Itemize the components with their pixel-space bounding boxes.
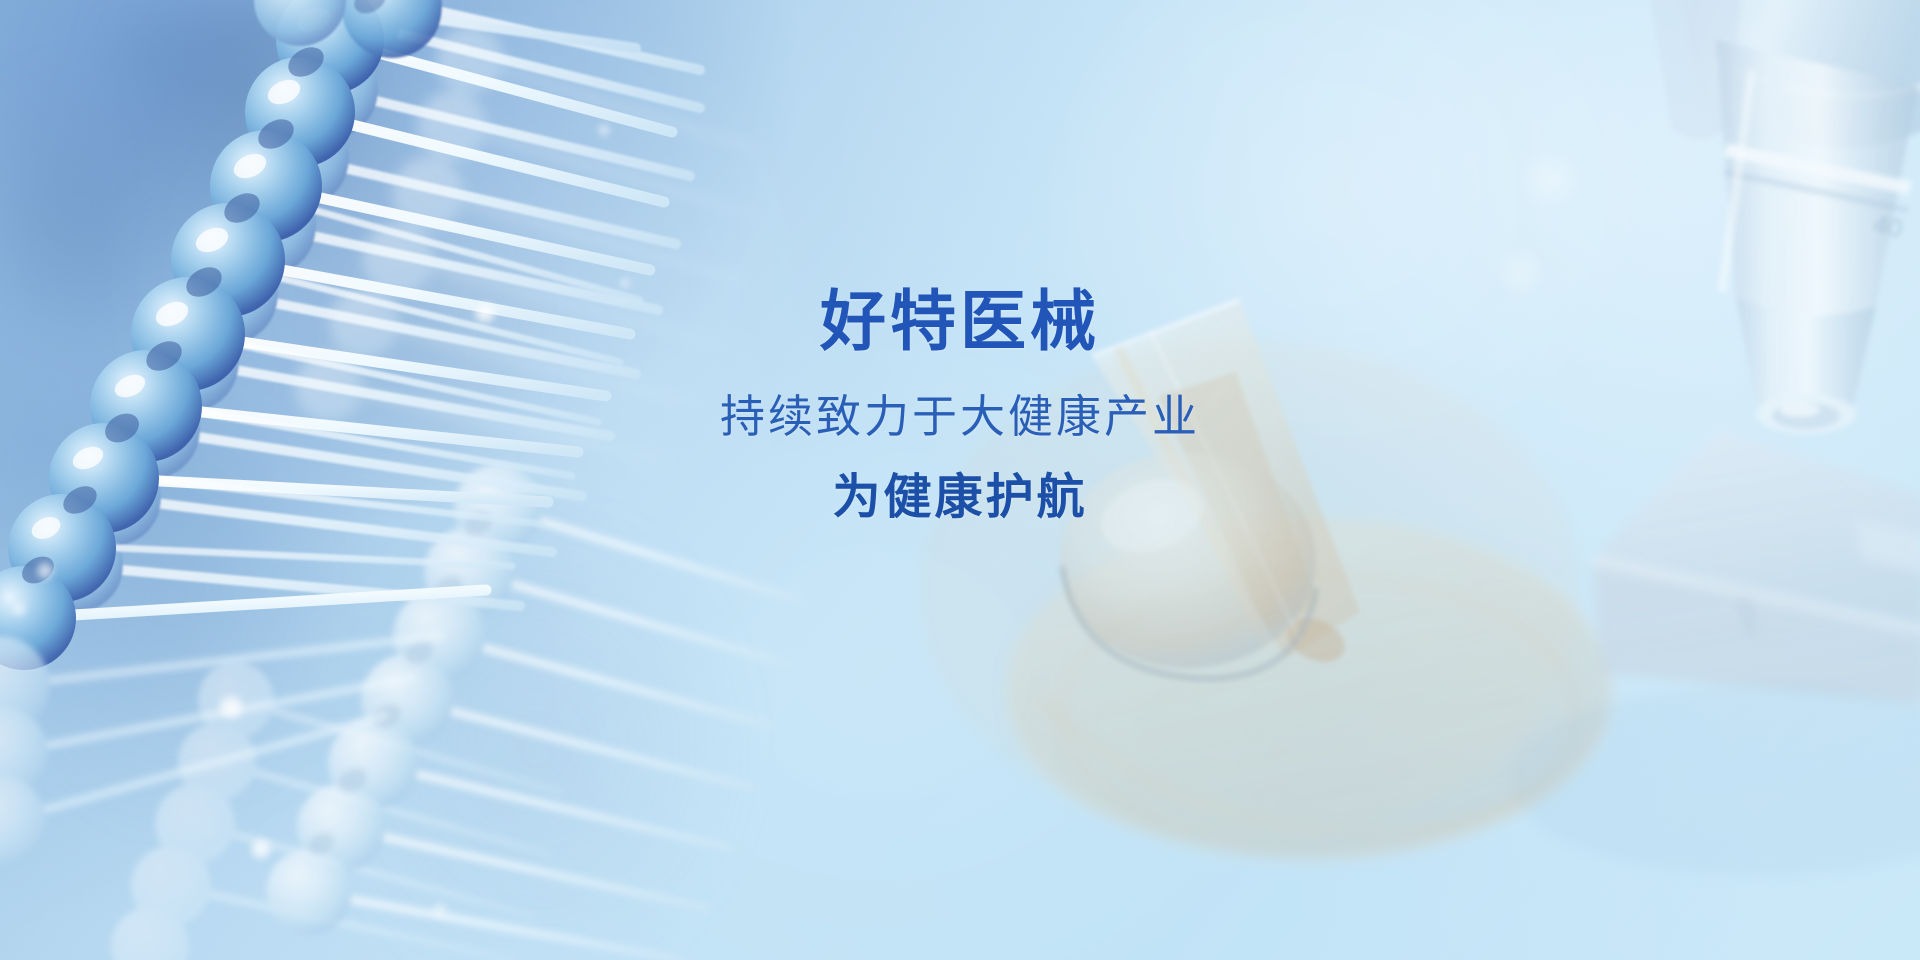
background-light-wash [0,0,1920,960]
hero-banner: 40 好特医械 持续致力于大健康产业 为健康护航 [0,0,1920,960]
